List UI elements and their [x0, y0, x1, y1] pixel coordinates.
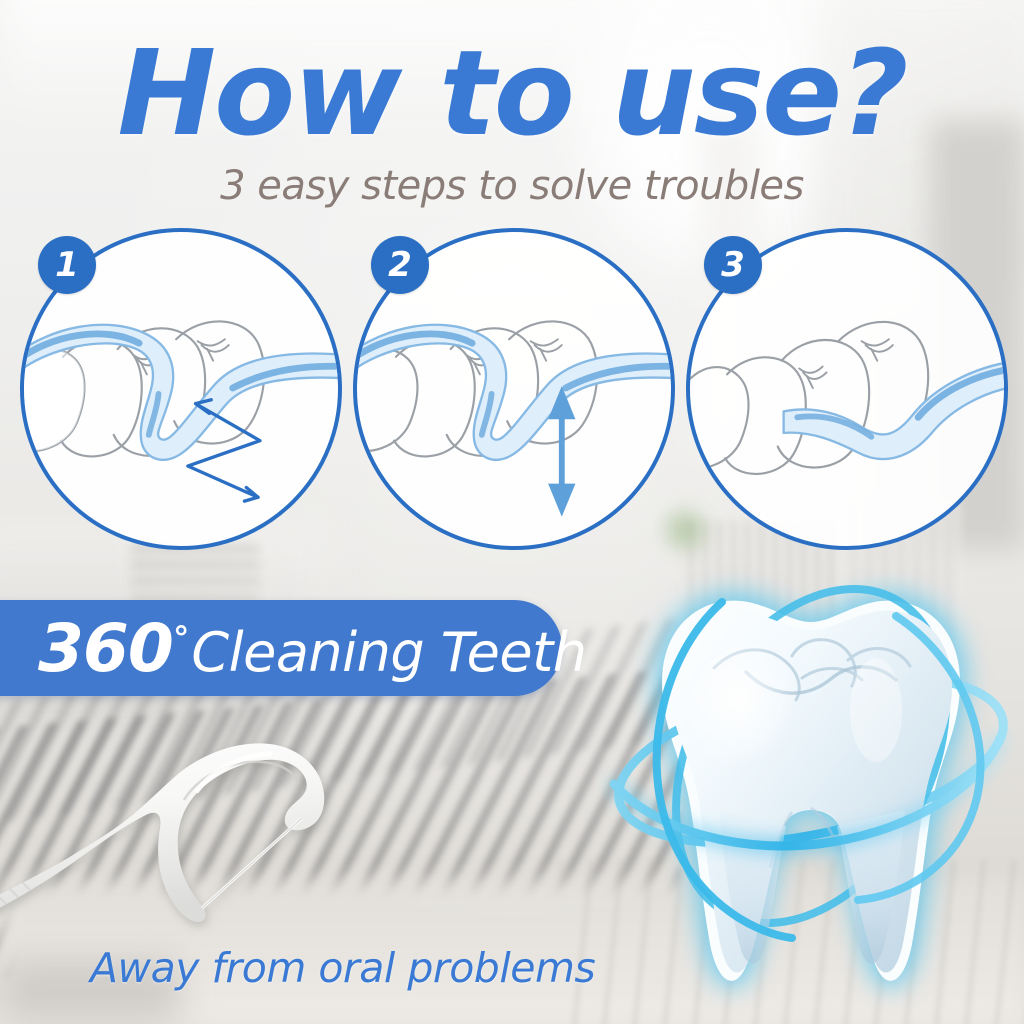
floss-pick-illustration	[0, 700, 450, 950]
step-badge-2: 2	[371, 236, 429, 294]
infographic-canvas: How to use? 3 easy steps to solve troubl…	[0, 0, 1024, 1024]
banner-degrees: 360	[38, 610, 173, 687]
step-badge-1: 1	[38, 236, 96, 294]
step-badge-3: 3	[704, 236, 762, 294]
step-card-3: 3	[686, 228, 1008, 550]
step-card-1: 1	[20, 228, 342, 550]
banner-label: Cleaning Teeth	[191, 621, 586, 684]
step-card-2: 2	[353, 228, 675, 550]
floss-pick-product	[0, 700, 450, 950]
tooth-with-orbit-rings	[596, 560, 1024, 1024]
banner-content: 360 ° Cleaning Teeth	[38, 610, 586, 687]
tooth-graphic	[596, 560, 1024, 1024]
bottom-caption: Away from oral problems	[90, 944, 595, 992]
cleaning-banner: 360 ° Cleaning Teeth	[0, 600, 562, 696]
degree-symbol-icon: °	[173, 619, 187, 658]
